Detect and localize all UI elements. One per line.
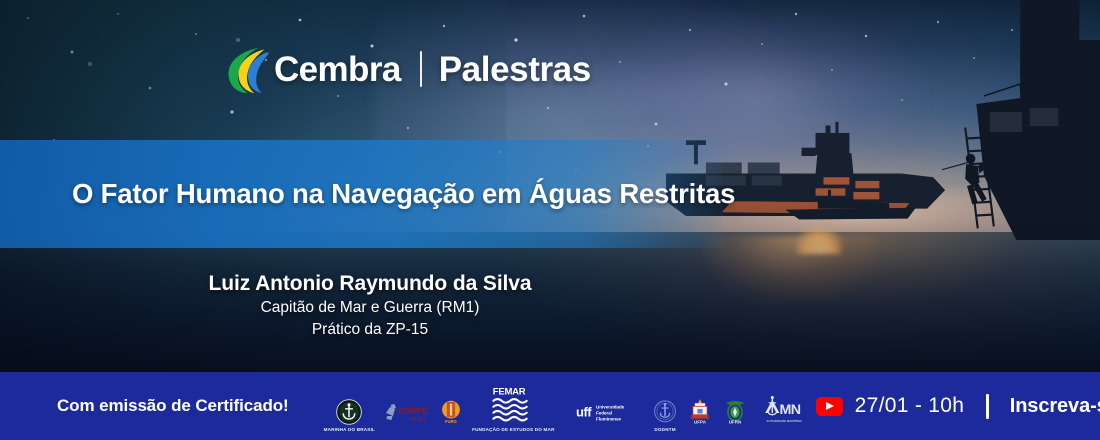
speaker-block: Luiz Antonio Raymundo da Silva Capitão d… — [0, 270, 740, 340]
register-link[interactable]: Inscreva-se! — [1010, 395, 1100, 418]
certificate-note: Com emissão de Certificado! — [57, 396, 289, 416]
furg-icon: FURG — [439, 399, 463, 425]
svg-text:UFRJ: UFRJ — [410, 417, 426, 423]
partner-logo-amn: MN AUTORIDADE MARÍTIMA AUTORIDADE MARÍTI… — [757, 382, 816, 432]
brand-name: Cembra — [274, 52, 401, 87]
cta-divider — [986, 394, 989, 419]
svg-text:uff: uff — [576, 405, 592, 420]
partner-logo-coppe: COPPE UFRJ UFRJ — [384, 382, 430, 432]
page-title: O Fator Humano na Navegação em Águas Res… — [0, 178, 735, 210]
svg-text:UFRN: UFRN — [729, 420, 742, 425]
brand-lockup: Cembra Palestras — [218, 43, 591, 95]
partner-logo-dgdntm: DGDNTM — [652, 382, 678, 432]
partner-logo-ufrn: UFRN UFRN — [722, 382, 748, 432]
svg-text:Federal: Federal — [596, 411, 612, 416]
svg-text:Universidade: Universidade — [596, 405, 625, 410]
speaker-name: Luiz Antonio Raymundo da Silva — [0, 270, 740, 297]
svg-text:MN: MN — [780, 402, 801, 418]
event-datetime: 27/01 - 10h — [855, 394, 965, 418]
svg-text:UFPA: UFPA — [694, 420, 707, 425]
partner-caption-marinha: MARINHA DO BRASIL — [324, 427, 375, 432]
partner-caption-dgdntm: DGDNTM — [654, 427, 675, 432]
partner-logo-furg: FURG FURG — [439, 382, 463, 432]
svg-text:Fluminense: Fluminense — [596, 417, 622, 422]
speaker-role-secondary: Prático da ZP-15 — [0, 319, 740, 340]
partner-logo-marinha: MARINHA DO BRASIL — [324, 382, 375, 432]
brand-divider — [420, 51, 422, 87]
event-banner: Cembra Palestras O Fator Humano na Naveg… — [0, 0, 1100, 440]
partner-logo-femar: FEMAR FUNDAÇÃO DE ESTUDOS DO MAR — [472, 382, 555, 432]
uff-icon: uff Universidade Federal Fluminense — [576, 399, 630, 425]
ufpa-seal-icon: UFPA — [687, 398, 713, 425]
youtube-icon[interactable] — [816, 397, 843, 416]
partner-caption-femar: FUNDAÇÃO DE ESTUDOS DO MAR — [472, 427, 555, 432]
dgdntm-seal-icon — [652, 399, 678, 425]
svg-text:FEMAR: FEMAR — [493, 387, 526, 398]
coppe-icon: COPPE UFRJ — [384, 399, 430, 425]
cta-group[interactable]: 27/01 - 10h Inscreva-se! — [816, 394, 1100, 419]
femar-waves-icon: FEMAR — [491, 385, 535, 425]
amn-anchor-icon: MN AUTORIDADE MARÍTIMA — [764, 395, 808, 425]
partner-logo-uff: uff Universidade Federal Fluminense Univ… — [564, 382, 643, 432]
svg-text:COPPE: COPPE — [398, 406, 429, 416]
anchor-seal-icon — [336, 399, 362, 425]
svg-text:FURG: FURG — [445, 419, 457, 424]
ufrn-seal-icon: UFRN — [722, 398, 748, 425]
bottom-bar: Com emissão de Certificado! MARINHA DO B… — [0, 372, 1100, 440]
play-triangle-icon — [826, 402, 834, 410]
svg-text:AUTORIDADE MARÍTIMA: AUTORIDADE MARÍTIMA — [767, 418, 803, 423]
partner-logo-row: MARINHA DO BRASIL COPPE UFRJ UFRJ — [324, 380, 816, 432]
brand-subtitle: Palestras — [439, 52, 591, 87]
partner-logo-ufpa: UFPA UFPA — [687, 382, 713, 432]
title-band: O Fator Humano na Navegação em Águas Res… — [0, 140, 723, 248]
cembra-swoosh-icon — [218, 43, 270, 95]
speaker-role: Capitão de Mar e Guerra (RM1) — [0, 297, 740, 318]
